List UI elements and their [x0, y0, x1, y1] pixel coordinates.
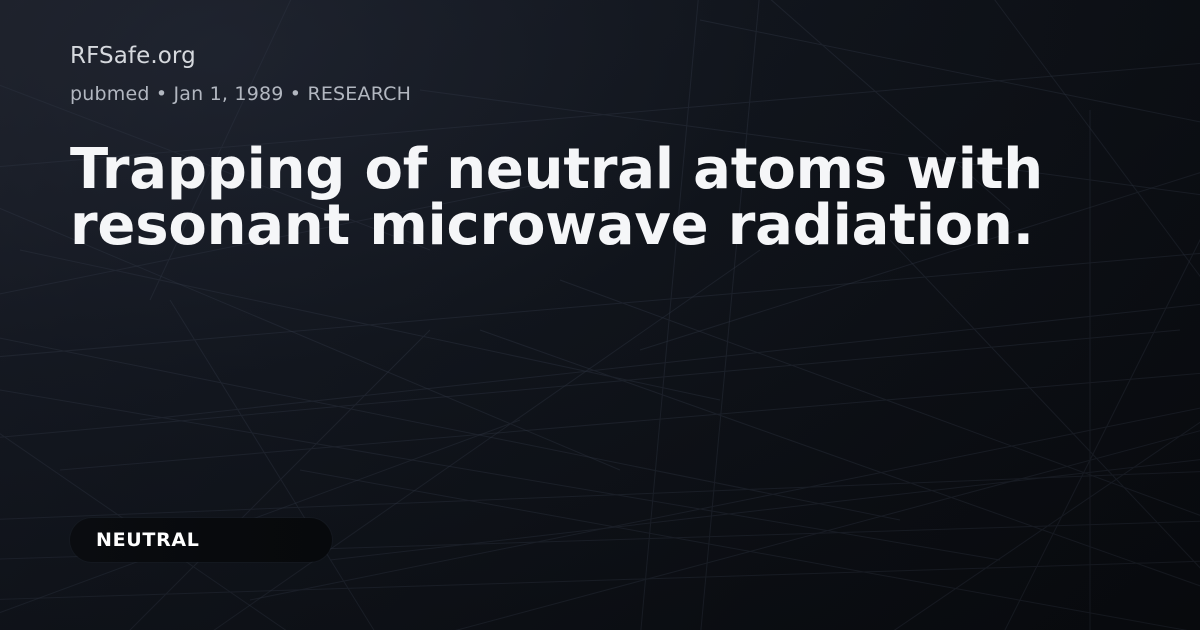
- status-badge: NEUTRAL: [70, 518, 332, 562]
- meta-line: pubmed • Jan 1, 1989 • RESEARCH: [70, 83, 411, 105]
- og-card: RFSafe.org pubmed • Jan 1, 1989 • RESEAR…: [0, 0, 1200, 630]
- card-content: RFSafe.org pubmed • Jan 1, 1989 • RESEAR…: [0, 0, 1200, 630]
- page-title: Trapping of neutral atoms with resonant …: [70, 142, 1130, 254]
- status-badge-label: NEUTRAL: [96, 529, 200, 551]
- site-name: RFSafe.org: [70, 43, 196, 69]
